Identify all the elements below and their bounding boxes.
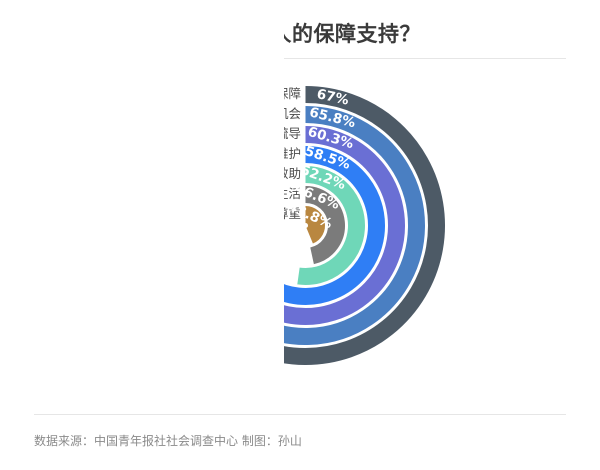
- category-label: 注重对残疾人的心理疏导: [0, 124, 303, 144]
- arc-value-label: 58.5%: [303, 143, 353, 173]
- category-label: 加强残疾人的社会福利保障: [0, 84, 303, 104]
- infographic-page: 你觉得应如何加强对残疾人的保障支持？ 加强残疾人的社会福利保障 创造更多针对残疾…: [0, 0, 600, 470]
- divider-top: [34, 58, 566, 59]
- category-label: 在全社会宣传对残疾人的保护与尊重: [0, 204, 303, 224]
- left-crop-mask: [0, 0, 284, 470]
- arc-value-label: 67%: [315, 86, 350, 108]
- category-label: 完善无障碍设施建设与维护: [0, 144, 303, 164]
- page-title: 你觉得应如何加强对残疾人的保障支持？: [34, 18, 574, 48]
- radial-bar-chart: 67%65.8%60.3%58.5%52.2%46.6%43.8%: [0, 0, 600, 470]
- arc-value-label: 60.3%: [306, 124, 356, 152]
- category-label: 创造更多针对残疾人的求学、求职机会: [0, 104, 303, 124]
- arc-band: [306, 215, 317, 236]
- divider-bottom: [34, 414, 566, 415]
- arc-value-label: 65.8%: [308, 104, 358, 131]
- arc-band: [298, 175, 356, 277]
- category-label: 加强对残疾人的医疗救助: [0, 164, 303, 184]
- arc-value-label: 52.2%: [298, 162, 348, 193]
- arc-band: [306, 195, 337, 256]
- category-label-column: 加强残疾人的社会福利保障 创造更多针对残疾人的求学、求职机会 注重对残疾人的心理…: [0, 84, 303, 224]
- category-label: 丰富残疾人的文化生活: [0, 184, 303, 204]
- footer-source-note: 数据来源：中国青年报社社会调查中心 制图：孙山: [34, 432, 302, 449]
